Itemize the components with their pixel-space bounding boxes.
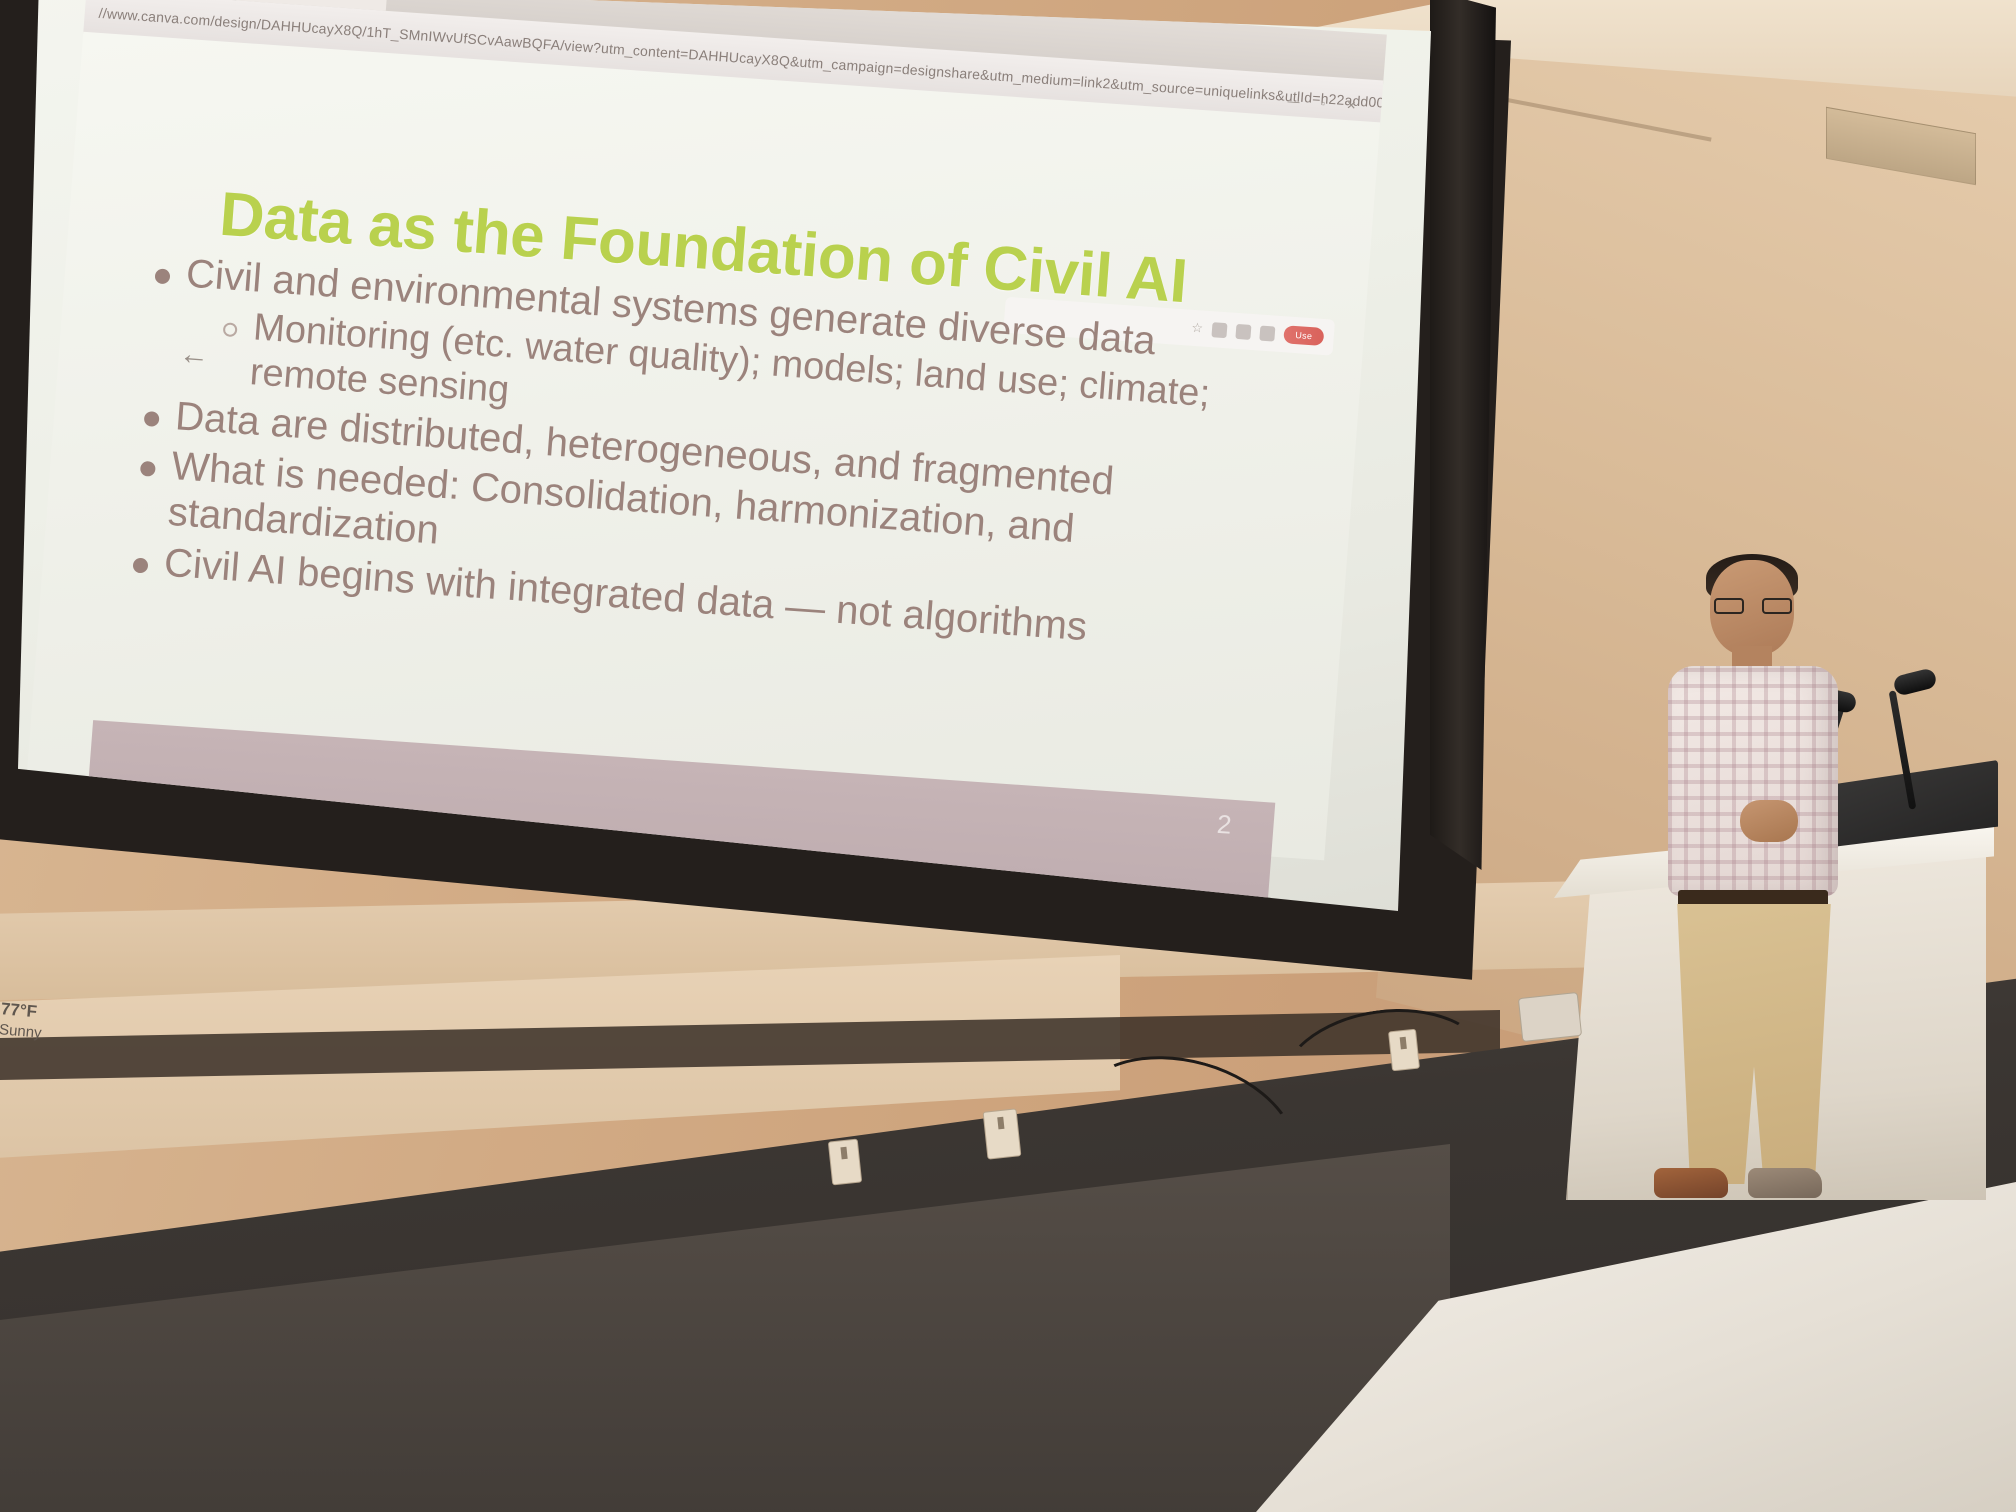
presenter [1630,560,1870,1220]
bullet-circle-icon [223,323,238,338]
bullet-dot-icon [132,557,148,573]
weather-condition: Sunny [0,1020,42,1043]
wall-outlet-left [828,1139,862,1186]
weather-widget[interactable]: 77°F Sunny [0,998,44,1043]
bullet-dot-icon [140,461,156,477]
canva-page: — ▫ ✕ ☆ Use ← Data as the Foundation of … [27,32,1380,861]
presenter-hands [1740,800,1798,842]
weather-temperature: 77°F [0,999,38,1021]
glasses-icon [1714,598,1792,614]
slide-page-number: 2 [1216,809,1233,841]
presenter-shoe-right [1748,1168,1822,1198]
bullet-dot-icon [154,268,170,284]
wall-outlet-mid [983,1108,1022,1159]
new-tab-button[interactable]: + [387,0,415,1]
power-strip [1518,992,1582,1042]
room-scene: + //www.canva.com/design/DAHHUcayX8Q/1hT… [0,0,2016,1512]
presenter-shirt [1668,666,1838,896]
presenter-shoe-left [1654,1168,1728,1198]
presenter-pants [1674,904,1834,1184]
bullet-dot-icon [144,411,160,427]
